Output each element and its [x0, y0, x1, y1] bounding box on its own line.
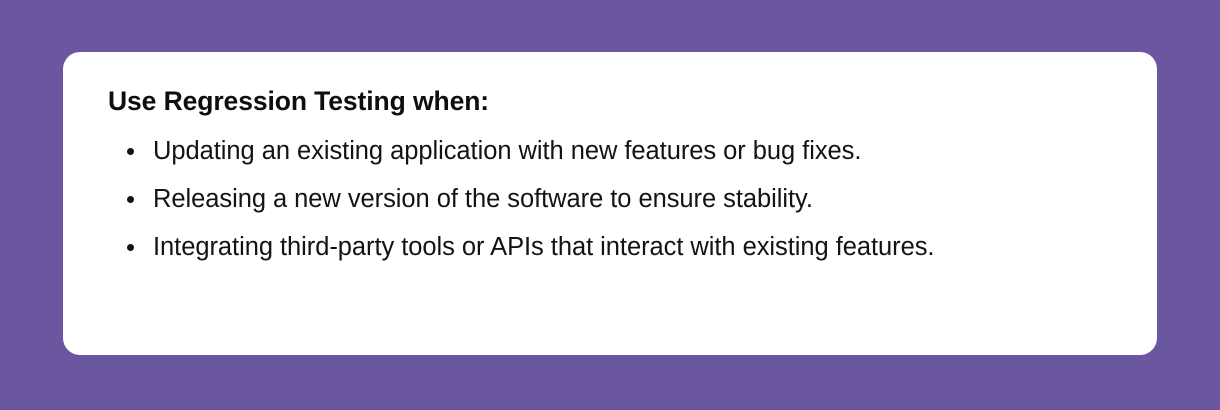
list-item-text: Integrating third-party tools or APIs th… [153, 233, 934, 261]
bullet-list: Updating an existing application with ne… [108, 127, 1117, 271]
list-item: Updating an existing application with ne… [108, 127, 1098, 175]
card-heading: Use Regression Testing when: [108, 86, 1117, 118]
card-content: Use Regression Testing when: Updating an… [108, 86, 1117, 271]
list-item-text: Releasing a new version of the software … [153, 185, 813, 213]
slide-background: Use Regression Testing when: Updating an… [0, 0, 1220, 410]
list-item: Releasing a new version of the software … [108, 175, 1098, 223]
bullet-dot-icon [127, 196, 134, 203]
content-card: Use Regression Testing when: Updating an… [63, 52, 1157, 355]
list-item: Integrating third-party tools or APIs th… [108, 223, 1098, 271]
bullet-dot-icon [127, 148, 134, 155]
bullet-dot-icon [127, 244, 134, 251]
list-item-text: Updating an existing application with ne… [153, 137, 861, 165]
